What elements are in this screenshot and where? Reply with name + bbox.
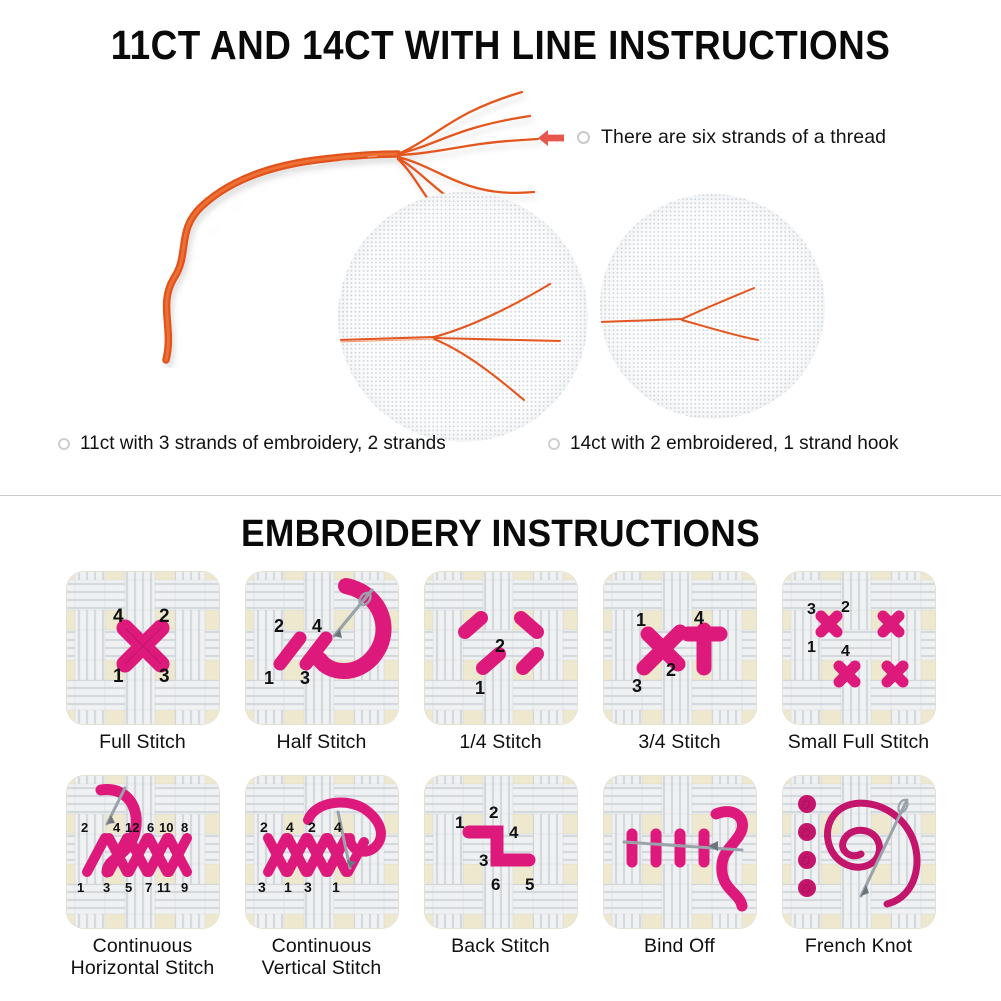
fabric-swatch-11ct — [338, 192, 588, 442]
stitch-label: Small Full Stitch — [788, 731, 930, 753]
svg-text:3: 3 — [632, 676, 642, 696]
stitch-row-2: 2412 6108 135 7119 Continuous Horizontal… — [0, 776, 1001, 979]
stitch-diagram-half-stitch: 24 13 — [246, 572, 398, 724]
caption-11ct: 11ct with 3 strands of embroidery, 2 str… — [58, 433, 446, 455]
stitch-cell-three-quarter-stitch: 14 23 3/4 Stitch — [597, 572, 763, 753]
stitch-row-1: 42 13 Full Stitch — [0, 572, 1001, 753]
svg-text:5: 5 — [525, 875, 534, 894]
svg-text:1: 1 — [113, 666, 124, 687]
svg-text:4: 4 — [334, 819, 342, 835]
svg-text:2: 2 — [308, 819, 316, 835]
svg-text:4: 4 — [113, 820, 121, 835]
stitch-label: Half Stitch — [277, 731, 367, 753]
svg-text:4: 4 — [113, 606, 124, 627]
svg-text:1: 1 — [475, 678, 485, 698]
stitch-diagram-three-quarter-stitch: 14 23 — [604, 572, 756, 724]
stitch-label: Bind Off — [644, 935, 715, 957]
stitch-diagram-quarter-stitch: 21 — [425, 572, 577, 724]
svg-text:1: 1 — [636, 610, 646, 630]
page-root: 11CT AND 14CT WITH LINE INSTRUCTIONS — [0, 0, 1001, 1001]
svg-text:4: 4 — [509, 823, 519, 842]
svg-text:4: 4 — [694, 608, 704, 628]
stitch-cell-continuous-horizontal: 2412 6108 135 7119 Continuous Horizontal… — [60, 776, 226, 979]
fabric-captions: 11ct with 3 strands of embroidery, 2 str… — [0, 433, 1001, 463]
caption-11ct-text: 11ct with 3 strands of embroidery, 2 str… — [80, 433, 446, 455]
svg-text:6: 6 — [491, 875, 500, 894]
stitch-diagram-bind-off — [604, 776, 756, 928]
svg-text:1: 1 — [332, 879, 340, 895]
section-thread-info: 11CT AND 14CT WITH LINE INSTRUCTIONS — [0, 0, 1001, 496]
svg-text:2: 2 — [489, 803, 498, 822]
stitch-grid: 42 13 Full Stitch — [0, 572, 1001, 979]
ring-bullet-icon — [548, 438, 560, 450]
thread-note-text: There are six strands of a thread — [601, 126, 886, 149]
svg-text:2: 2 — [81, 820, 88, 835]
ring-bullet-icon — [577, 131, 590, 144]
stitch-cell-back-stitch: 12 43 65 Back Stitch — [418, 776, 584, 979]
stitch-diagram-french-knot — [783, 776, 935, 928]
svg-text:3: 3 — [258, 879, 266, 895]
stitch-label: Continuous Horizontal Stitch — [71, 935, 215, 979]
stitch-diagram-small-full-stitch: 32 14 — [783, 572, 935, 724]
svg-text:6: 6 — [147, 820, 154, 835]
svg-text:2: 2 — [159, 606, 170, 627]
svg-text:1: 1 — [455, 813, 464, 832]
stitch-cell-french-knot: French Knot — [776, 776, 942, 979]
ring-bullet-icon — [58, 438, 70, 450]
svg-text:5: 5 — [125, 880, 132, 895]
svg-text:4: 4 — [841, 643, 850, 660]
stitch-cell-continuous-vertical: 24 24 31 31 Continuous Vertical Stitch — [239, 776, 405, 979]
caption-14ct: 14ct with 2 embroidered, 1 strand hook — [548, 433, 898, 455]
svg-text:1: 1 — [77, 880, 84, 895]
svg-text:4: 4 — [312, 616, 322, 636]
page-title: 11CT AND 14CT WITH LINE INSTRUCTIONS — [50, 22, 951, 69]
svg-text:3: 3 — [159, 666, 170, 687]
svg-text:9: 9 — [181, 880, 188, 895]
svg-text:8: 8 — [181, 820, 188, 835]
svg-text:2: 2 — [274, 616, 284, 636]
stitch-label: 1/4 Stitch — [459, 731, 541, 753]
svg-text:3: 3 — [103, 880, 110, 895]
section-title: EMBROIDERY INSTRUCTIONS — [35, 513, 966, 556]
svg-text:4: 4 — [286, 819, 294, 835]
svg-text:1: 1 — [807, 639, 816, 656]
stitch-label: Back Stitch — [451, 935, 550, 957]
section-embroidery-instructions: EMBROIDERY INSTRUCTIONS — [0, 496, 1001, 1001]
stitch-diagram-back-stitch: 12 43 65 — [425, 776, 577, 928]
stitch-diagram-continuous-horizontal: 2412 6108 135 7119 — [67, 776, 219, 928]
svg-text:3: 3 — [479, 851, 488, 870]
svg-text:1: 1 — [284, 879, 292, 895]
caption-14ct-text: 14ct with 2 embroidered, 1 strand hook — [570, 433, 898, 455]
stitch-label: Continuous Vertical Stitch — [262, 935, 382, 979]
svg-text:12: 12 — [125, 820, 139, 835]
svg-text:2: 2 — [260, 819, 268, 835]
stitch-diagram-full-stitch: 42 13 — [67, 572, 219, 724]
svg-text:11: 11 — [157, 880, 171, 895]
stitch-cell-half-stitch: 24 13 Half Stitch — [239, 572, 405, 753]
thread-note: There are six strands of a thread — [536, 126, 886, 149]
svg-text:2: 2 — [495, 636, 505, 656]
arrow-left-icon — [536, 128, 566, 148]
svg-text:1: 1 — [264, 668, 274, 688]
stitch-label: 3/4 Stitch — [638, 731, 720, 753]
svg-text:3: 3 — [300, 668, 310, 688]
svg-text:3: 3 — [304, 879, 312, 895]
svg-text:10: 10 — [159, 820, 173, 835]
svg-text:7: 7 — [145, 880, 152, 895]
stitch-cell-quarter-stitch: 21 1/4 Stitch — [418, 572, 584, 753]
fabric-swatch-14ct — [600, 194, 825, 419]
stitch-cell-bind-off: Bind Off — [597, 776, 763, 979]
svg-text:3: 3 — [807, 601, 816, 618]
stitch-cell-full-stitch: 42 13 Full Stitch — [60, 572, 226, 753]
stitch-diagram-continuous-vertical: 24 24 31 31 — [246, 776, 398, 928]
stitch-cell-small-full-stitch: 32 14 Small Full Stitch — [776, 572, 942, 753]
stitch-label: Full Stitch — [99, 731, 186, 753]
stitch-label: French Knot — [805, 935, 912, 957]
svg-text:2: 2 — [666, 660, 676, 680]
svg-text:2: 2 — [841, 599, 850, 616]
